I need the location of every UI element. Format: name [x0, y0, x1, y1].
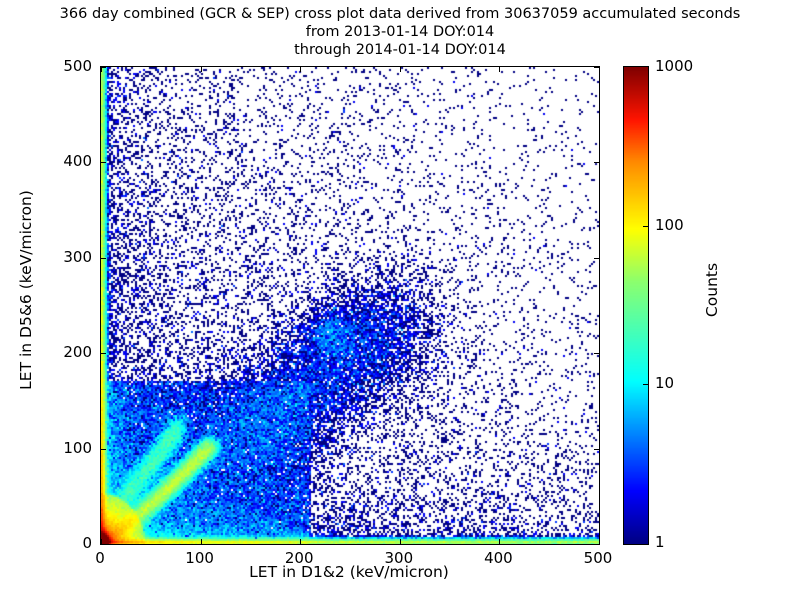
y-tick-400 [594, 162, 599, 163]
histogram-canvas [101, 67, 599, 544]
x-tick-200 [300, 67, 301, 72]
chart-title: 366 day combined (GCR & SEP) cross plot … [0, 5, 800, 59]
y-tick-100 [594, 449, 599, 450]
y-tick-300 [101, 258, 106, 259]
y-tick-200 [101, 353, 106, 354]
y-tick-label-500: 500 [38, 57, 92, 75]
x-tick-100 [201, 539, 202, 544]
colorbar-tick-label-100: 100 [655, 216, 684, 234]
x-axis-label: LET in D1&2 (keV/micron) [100, 563, 598, 581]
y-tick-100 [101, 449, 106, 450]
chart-figure: 366 day combined (GCR & SEP) cross plot … [0, 0, 800, 600]
y-tick-500 [594, 67, 599, 68]
x-tick-500 [599, 539, 600, 544]
y-tick-label-0: 0 [38, 534, 92, 552]
x-tick-300 [400, 67, 401, 72]
x-tick-200 [300, 539, 301, 544]
y-tick-label-300: 300 [38, 248, 92, 266]
x-tick-100 [201, 67, 202, 72]
chart-title-line-1: 366 day combined (GCR & SEP) cross plot … [0, 5, 800, 23]
y-tick-label-400: 400 [38, 152, 92, 170]
colorbar-tick-100 [643, 226, 648, 227]
plot-area [100, 66, 600, 545]
colorbar [623, 66, 649, 545]
y-tick-400 [101, 162, 106, 163]
colorbar-tick-label-1000: 1000 [655, 57, 693, 75]
colorbar-tick-10 [643, 384, 648, 385]
colorbar-gradient [624, 67, 648, 544]
y-tick-label-100: 100 [38, 439, 92, 457]
x-tick-400 [499, 67, 500, 72]
y-tick-500 [101, 67, 106, 68]
x-tick-300 [400, 539, 401, 544]
y-tick-200 [594, 353, 599, 354]
y-tick-0 [594, 544, 599, 545]
colorbar-tick-label-10: 10 [655, 374, 674, 392]
y-axis-label: LET in D5&6 (keV/micron) [17, 130, 35, 450]
y-tick-0 [101, 544, 106, 545]
colorbar-label: Counts [703, 180, 721, 400]
y-tick-300 [594, 258, 599, 259]
x-tick-500 [599, 67, 600, 72]
colorbar-tick-label-1: 1 [655, 533, 665, 551]
y-tick-label-200: 200 [38, 343, 92, 361]
chart-title-line-2: from 2013-01-14 DOY:014 [0, 23, 800, 41]
x-tick-400 [499, 539, 500, 544]
